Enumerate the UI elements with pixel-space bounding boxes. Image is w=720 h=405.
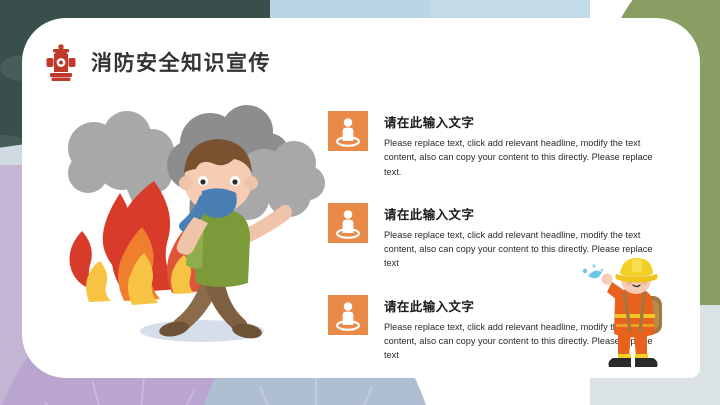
list-item-heading: 请在此输入文字 — [384, 112, 656, 131]
person-on-platform-icon[interactable] — [328, 111, 368, 151]
person-on-platform-icon[interactable] — [328, 295, 368, 335]
header: 消防安全知识宣传 — [44, 42, 271, 82]
fire-hydrant-icon — [44, 42, 78, 82]
firefighter-character — [582, 254, 686, 372]
boot — [609, 358, 632, 367]
list-item-body: Please replace text, click add relevant … — [384, 136, 656, 179]
water-spray-icon — [583, 264, 604, 278]
list-item[interactable]: 请在此输入文字 Please replace text, click add r… — [328, 111, 688, 179]
list-item-heading: 请在此输入文字 — [384, 204, 656, 223]
content-card: 消防安全知识宣传 — [22, 18, 700, 378]
page-title: 消防安全知识宣传 — [91, 47, 271, 77]
hand — [602, 274, 613, 285]
fire-suit — [614, 288, 655, 338]
child-escaping-fire-illustration — [42, 103, 332, 353]
person-on-platform-icon[interactable] — [328, 203, 368, 243]
boot — [635, 358, 658, 367]
slide-canvas: 消防安全知识宣传 — [0, 0, 720, 405]
